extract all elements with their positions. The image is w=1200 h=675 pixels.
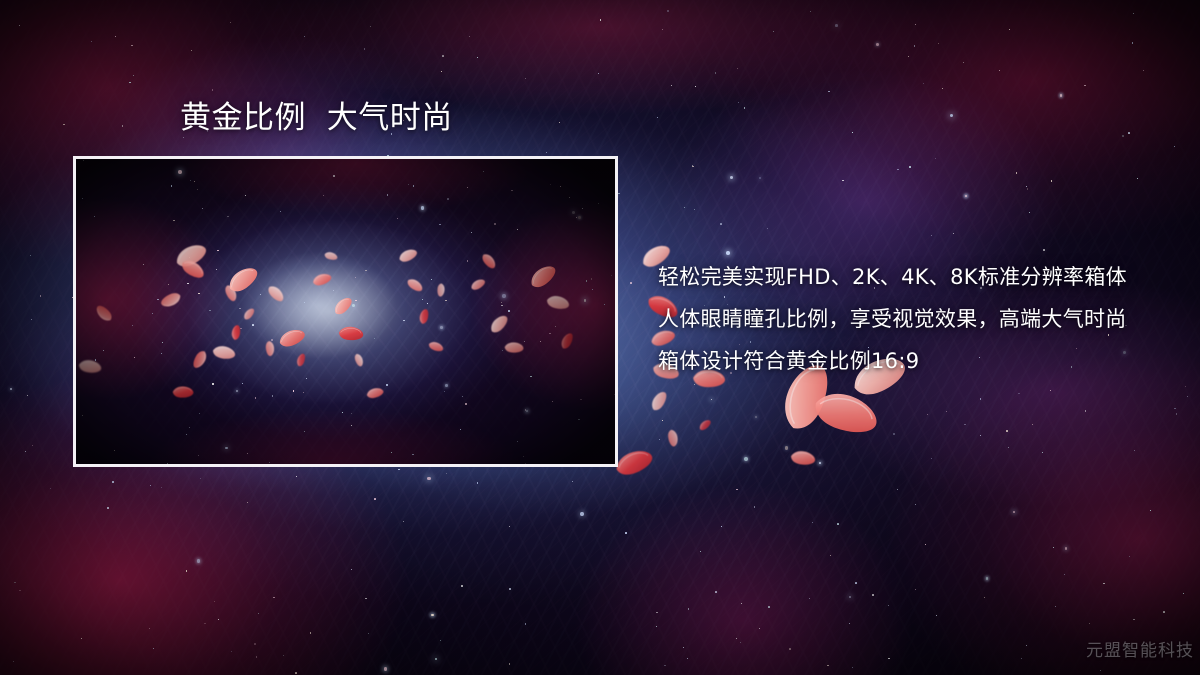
petal: [698, 420, 712, 430]
frame-photo: [76, 159, 615, 464]
slide-headline: 黄金比例 大气时尚: [180, 102, 453, 135]
body-copy-block: 轻松完美实现FHD、2K、4K、8K标准分辨率箱体 人体眼睛瞳孔比例，享受视觉效…: [658, 256, 1138, 382]
body-copy-line-2: 人体眼睛瞳孔比例，享受视觉效果，高端大气时尚: [658, 298, 1138, 340]
body-copy-line-1: 轻松完美实现FHD、2K、4K、8K标准分辨率箱体: [658, 256, 1138, 298]
petal: [790, 450, 816, 466]
presentation-slide: 黄金比例 大气时尚 轻松完美实现FHD、2K、4K、8K标准分辨率箱体 人体眼睛…: [0, 0, 1200, 675]
nebula-photo-frame[interactable]: [73, 156, 618, 467]
petal: [614, 450, 654, 475]
petal: [812, 392, 880, 434]
body-copy-line-3: 箱体设计符合黄金比例16:9: [658, 340, 1138, 382]
frame-vignette: [76, 159, 615, 464]
petal: [648, 394, 670, 408]
company-watermark: 元盟智能科技: [1086, 636, 1194, 661]
petal: [664, 432, 682, 444]
